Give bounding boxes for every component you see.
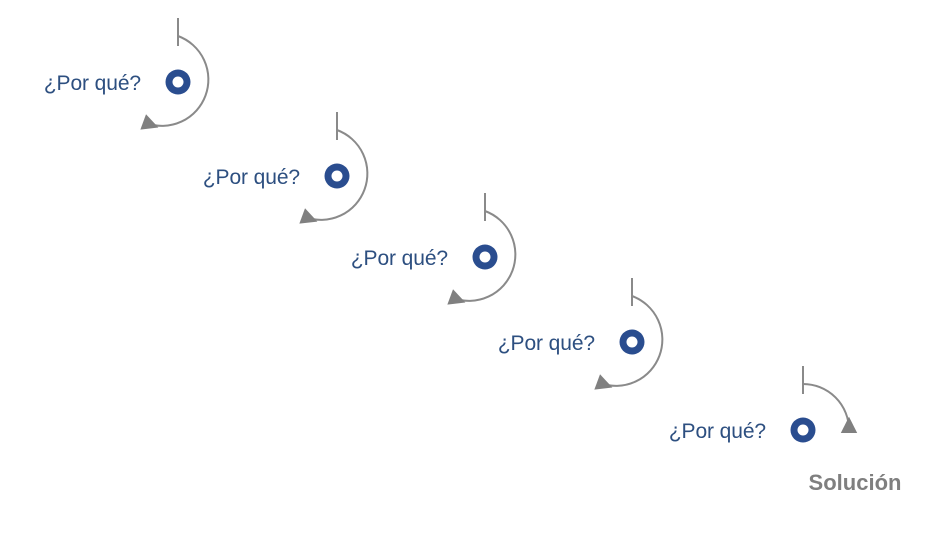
why-step-4-label: ¿Por qué?	[498, 332, 595, 356]
step-ring-hole-icon	[627, 337, 638, 348]
step-ring-hole-icon	[173, 77, 184, 88]
why-step-1-label: ¿Por qué?	[44, 72, 141, 96]
why-step-3-graphics	[453, 193, 515, 301]
why-step-3-label: ¿Por qué?	[351, 247, 448, 271]
step-ring-hole-icon	[480, 252, 491, 263]
why-step-4-graphics	[600, 278, 662, 386]
why-step-2-label: ¿Por qué?	[203, 166, 300, 190]
why-step-2-graphics	[305, 112, 367, 220]
why-step-1-graphics	[146, 18, 208, 126]
diagram-canvas: ¿Por qué? ¿Por qué? ¿Por qué? ¿Por qué? …	[0, 0, 950, 539]
why-step-5-graphics	[791, 366, 850, 443]
solution-label: Solución	[809, 470, 902, 496]
step-ring-hole-icon	[332, 171, 343, 182]
why-step-5-label: ¿Por qué?	[669, 420, 766, 444]
step-ring-hole-icon	[798, 425, 809, 436]
diagram-vector-layer	[0, 0, 950, 539]
